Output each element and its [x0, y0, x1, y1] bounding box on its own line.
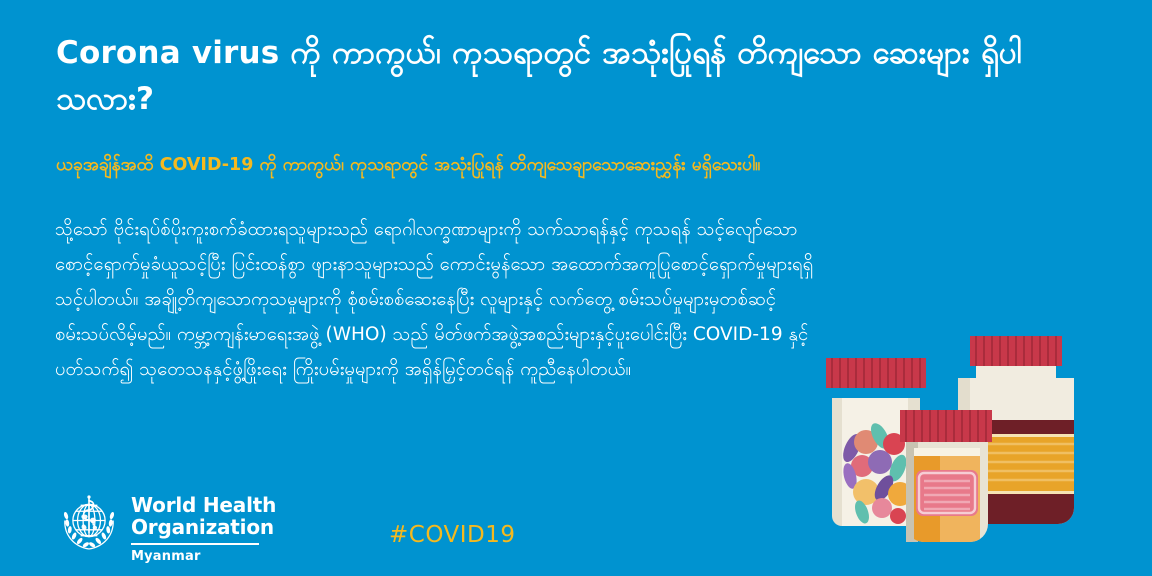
- body-paragraph: သို့သော် ဗိုင်းရပ်စ်ပိုးကူးစက်ခံထားရသူမျ…: [55, 212, 830, 387]
- page-title: Corona virus ကို ကာကွယ်၊ ကုသရာတွင် အသုံး…: [56, 30, 1056, 122]
- poster-canvas: Corona virus ကို ကာကွယ်၊ ကုသရာတွင် အသုံး…: [0, 0, 1152, 576]
- who-emblem-icon: [58, 492, 120, 554]
- bottle-center: [900, 410, 992, 546]
- who-country-label: Myanmar: [131, 549, 276, 564]
- who-name-line-2: Organization: [131, 516, 276, 538]
- hashtag-label: #COVID19: [389, 522, 516, 548]
- who-name-line-1: World Health: [131, 494, 276, 516]
- medicine-bottles-illustration: [818, 336, 1152, 576]
- subtitle-text: ယခုအချိန်အထိ COVID-19 ကို ကာကွယ်၊ ကုသရာတ…: [56, 152, 1086, 178]
- who-logo: World Health Organization Myanmar: [58, 492, 276, 564]
- logo-divider: [131, 543, 259, 545]
- who-wordmark: World Health Organization Myanmar: [131, 492, 276, 564]
